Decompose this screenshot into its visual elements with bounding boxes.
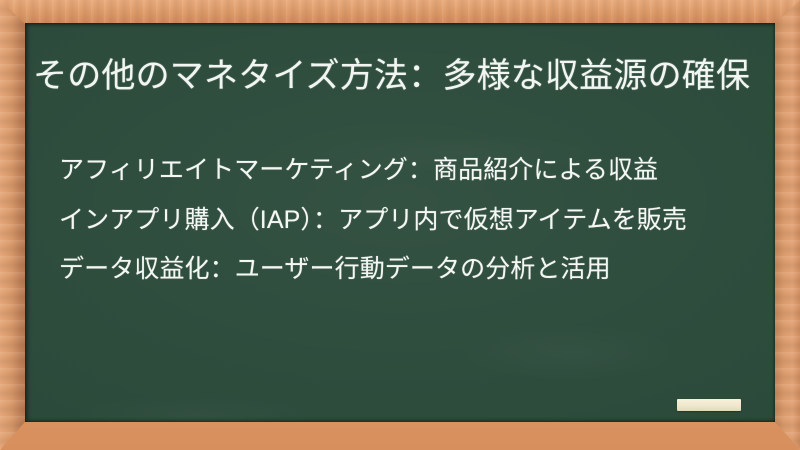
chalk-stick-icon (677, 399, 741, 411)
bullet-list: アフィリエイトマーケティング：商品紹介による収益 インアプリ購入（IAP）：アプ… (59, 153, 759, 287)
chalkboard-slide: その他のマネタイズ方法：多様な収益源の確保 アフィリエイトマーケティング：商品紹… (0, 0, 800, 450)
slide-title: その他のマネタイズ方法：多様な収益源の確保 (33, 54, 753, 99)
frame-left-rail (0, 0, 25, 450)
bullet-item: データ収益化：ユーザー行動データの分析と活用 (59, 252, 759, 287)
slide-content: その他のマネタイズ方法：多様な収益源の確保 アフィリエイトマーケティング：商品紹… (25, 23, 775, 422)
chalkboard-surface: その他のマネタイズ方法：多様な収益源の確保 アフィリエイトマーケティング：商品紹… (25, 23, 775, 422)
frame-right-rail (775, 0, 800, 450)
bullet-item: アフィリエイトマーケティング：商品紹介による収益 (59, 153, 759, 188)
frame-bottom-ledge (0, 422, 800, 450)
bullet-item: インアプリ購入（IAP）：アプリ内で仮想アイテムを販売 (59, 203, 759, 238)
frame-top-rail (0, 0, 800, 24)
